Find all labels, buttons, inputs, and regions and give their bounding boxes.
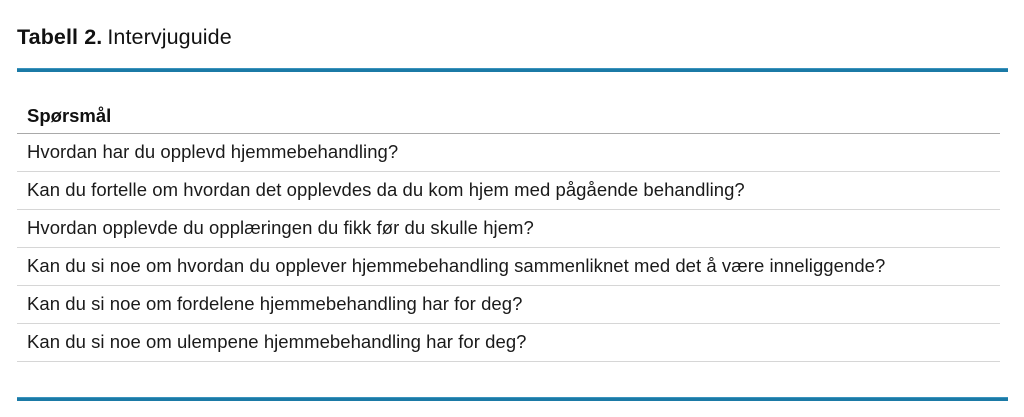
bottom-rule — [17, 397, 1008, 401]
caption-label: Tabell 2. — [17, 25, 102, 49]
question-text: Hvordan opplevde du opplæringen du fikk … — [27, 216, 907, 240]
table-figure: Tabell 2.Intervjuguide Spørsmål Hvordan … — [0, 0, 1024, 417]
question-text: Kan du fortelle om hvordan det opplevdes… — [27, 178, 907, 202]
top-rule — [17, 68, 1008, 72]
question-text: Hvordan har du opplevd hjemmebehandling? — [27, 140, 907, 164]
table-row: Kan du si noe om hvordan du opplever hje… — [17, 248, 1000, 286]
table-row: Kan du si noe om fordelene hjemmebehandl… — [17, 286, 1000, 324]
question-text: Kan du si noe om ulempene hjemmebehandli… — [27, 330, 907, 354]
caption-text: Intervjuguide — [107, 25, 231, 49]
table-body: Hvordan har du opplevd hjemmebehandling?… — [17, 134, 1000, 362]
column-header-sporsmal: Spørsmål — [27, 104, 111, 128]
table-row: Kan du si noe om ulempene hjemmebehandli… — [17, 324, 1000, 362]
table-row: Hvordan har du opplevd hjemmebehandling? — [17, 134, 1000, 172]
table-row: Hvordan opplevde du opplæringen du fikk … — [17, 210, 1000, 248]
table-row: Kan du fortelle om hvordan det opplevdes… — [17, 172, 1000, 210]
question-text: Kan du si noe om fordelene hjemmebehandl… — [27, 292, 907, 316]
question-text: Kan du si noe om hvordan du opplever hje… — [27, 254, 907, 278]
table-caption: Tabell 2.Intervjuguide — [17, 23, 232, 51]
